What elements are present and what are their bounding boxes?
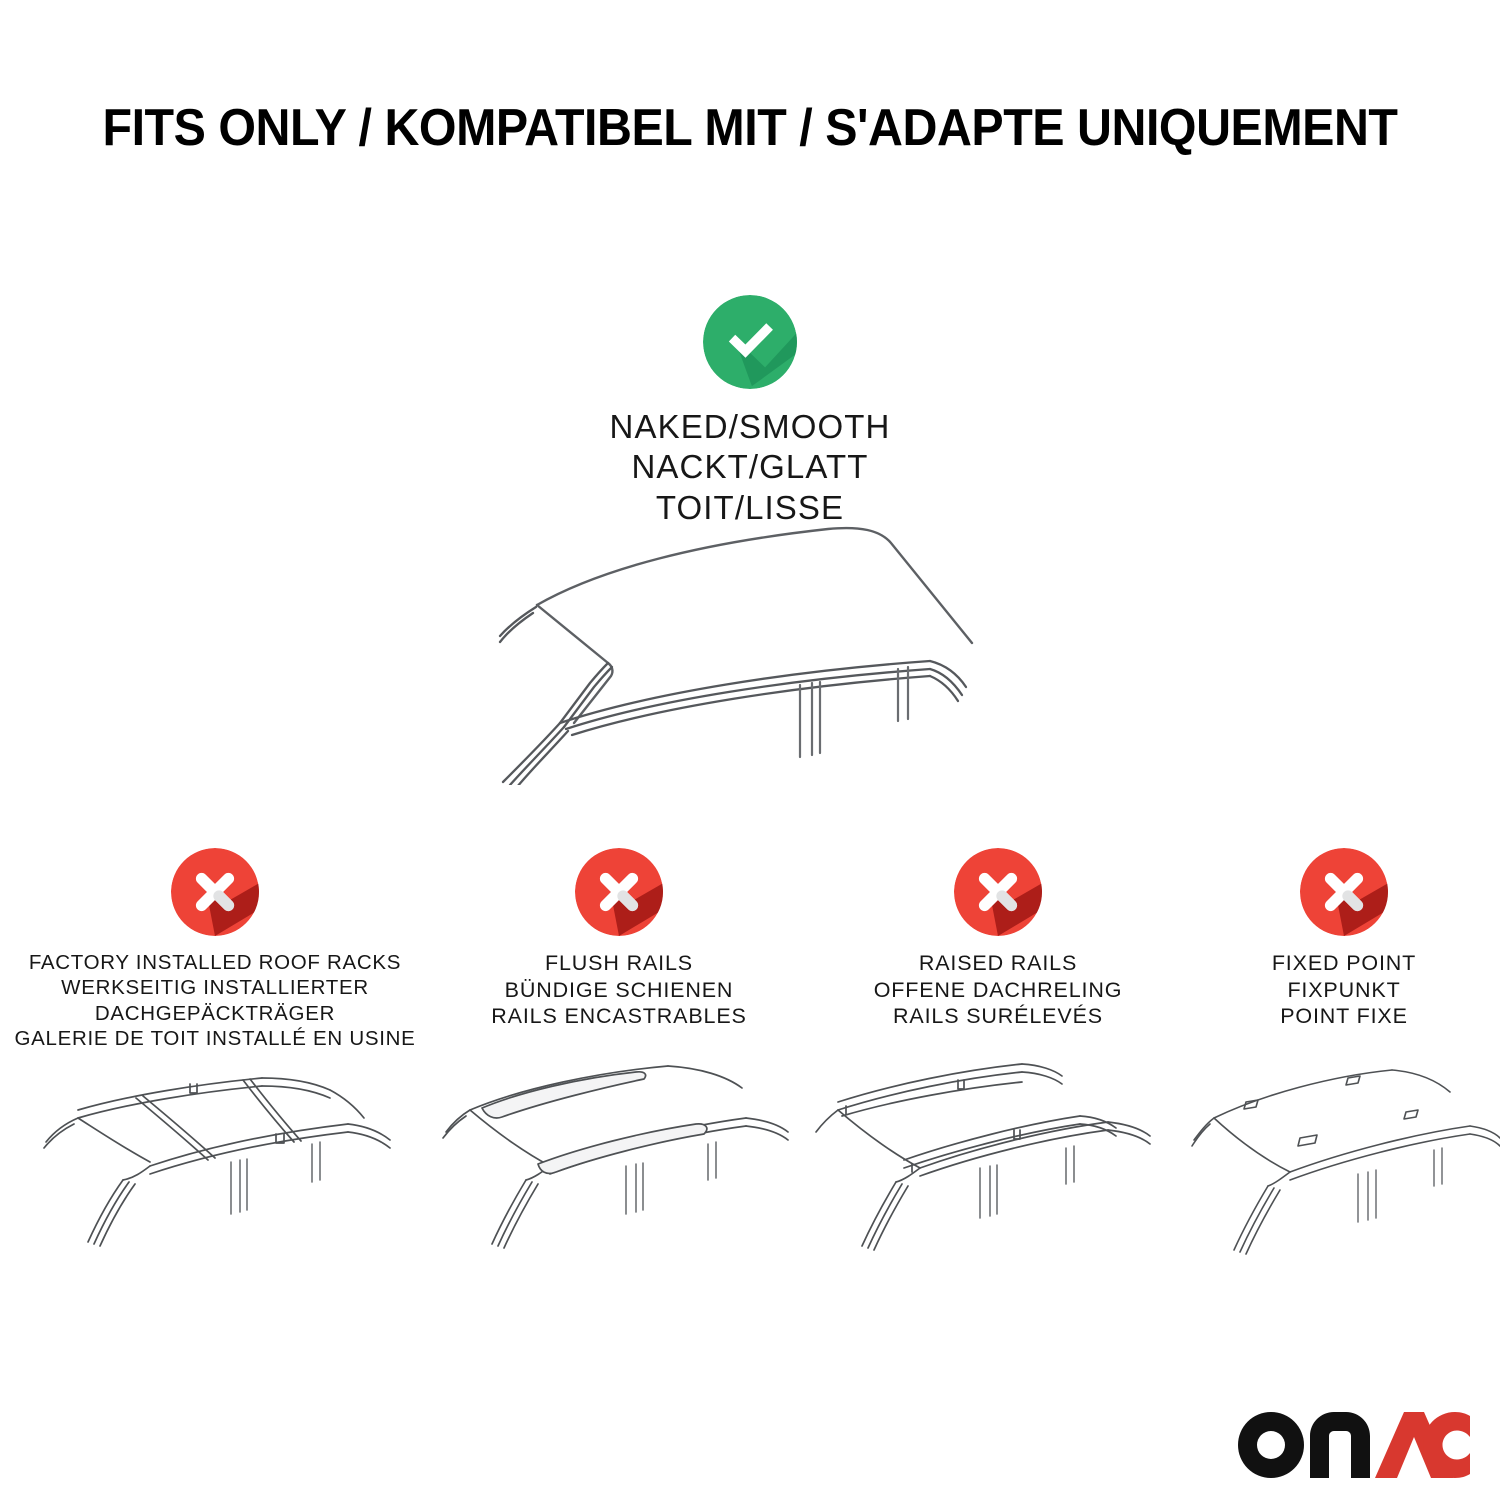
label-en: RAISED RAILS — [808, 950, 1188, 977]
label-en: FIXED POINT — [1188, 950, 1500, 977]
x-circle-icon — [575, 848, 663, 936]
label-fr: RAILS ENCASTRABLES — [430, 1003, 808, 1030]
label-de: OFFENE DACHRELING — [808, 977, 1188, 1004]
incompatible-labels: RAISED RAILS OFFENE DACHRELING RAILS SUR… — [808, 950, 1188, 1030]
label-de-line1: WERKSEITIG INSTALLIERTER — [0, 975, 430, 1000]
compatible-label-en: NAKED/SMOOTH — [0, 407, 1500, 447]
incompatible-item-flush-rails: FLUSH RAILS BÜNDIGE SCHIENEN RAILS ENCAS… — [430, 848, 808, 1030]
incompatible-labels: FACTORY INSTALLED ROOF RACKS WERKSEITIG … — [0, 950, 430, 1052]
label-en: FLUSH RAILS — [430, 950, 808, 977]
label-fr: POINT FIXE — [1188, 1003, 1500, 1030]
label-de: BÜNDIGE SCHIENEN — [430, 977, 808, 1004]
omac-logo — [1238, 1412, 1470, 1478]
naked-smooth-roof-drawing — [0, 495, 1500, 785]
incompatible-item-fixed-point: FIXED POINT FIXPUNKT POINT FIXE — [1188, 848, 1500, 1030]
x-circle-icon — [171, 848, 259, 936]
logo-letter-m — [1310, 1412, 1370, 1478]
x-circle-icon — [954, 848, 1042, 936]
label-en: FACTORY INSTALLED ROOF RACKS — [0, 950, 430, 975]
incompatible-item-raised-rails: RAISED RAILS OFFENE DACHRELING RAILS SUR… — [808, 848, 1188, 1030]
compatible-label-de: NACKT/GLATT — [0, 447, 1500, 487]
incompatible-item-factory-installed-roof-racks: FACTORY INSTALLED ROOF RACKS WERKSEITIG … — [0, 848, 430, 1052]
label-fr: RAILS SURÉLEVÉS — [808, 1003, 1188, 1030]
x-circle-icon — [1300, 848, 1388, 936]
fixed-point-drawing — [1188, 1062, 1500, 1287]
factory-roof-rack-drawing — [0, 1062, 430, 1287]
raised-rails-drawing — [808, 1062, 1188, 1287]
label-fr: GALERIE DE TOIT INSTALLÉ EN USINE — [0, 1026, 430, 1051]
label-de-line2: DACHGEPÄCKTRÄGER — [0, 1001, 430, 1026]
flush-rails-drawing — [430, 1062, 808, 1287]
incompatible-labels: FIXED POINT FIXPUNKT POINT FIXE — [1188, 950, 1500, 1030]
label-de: FIXPUNKT — [1188, 977, 1500, 1004]
page-title: FITS ONLY / KOMPATIBEL MIT / S'ADAPTE UN… — [53, 98, 1448, 158]
compatible-section: NAKED/SMOOTH NACKT/GLATT TOIT/LISSE — [0, 295, 1500, 528]
logo-letter-o — [1238, 1412, 1304, 1478]
incompatible-labels: FLUSH RAILS BÜNDIGE SCHIENEN RAILS ENCAS… — [430, 950, 808, 1030]
check-circle-icon — [703, 295, 797, 389]
